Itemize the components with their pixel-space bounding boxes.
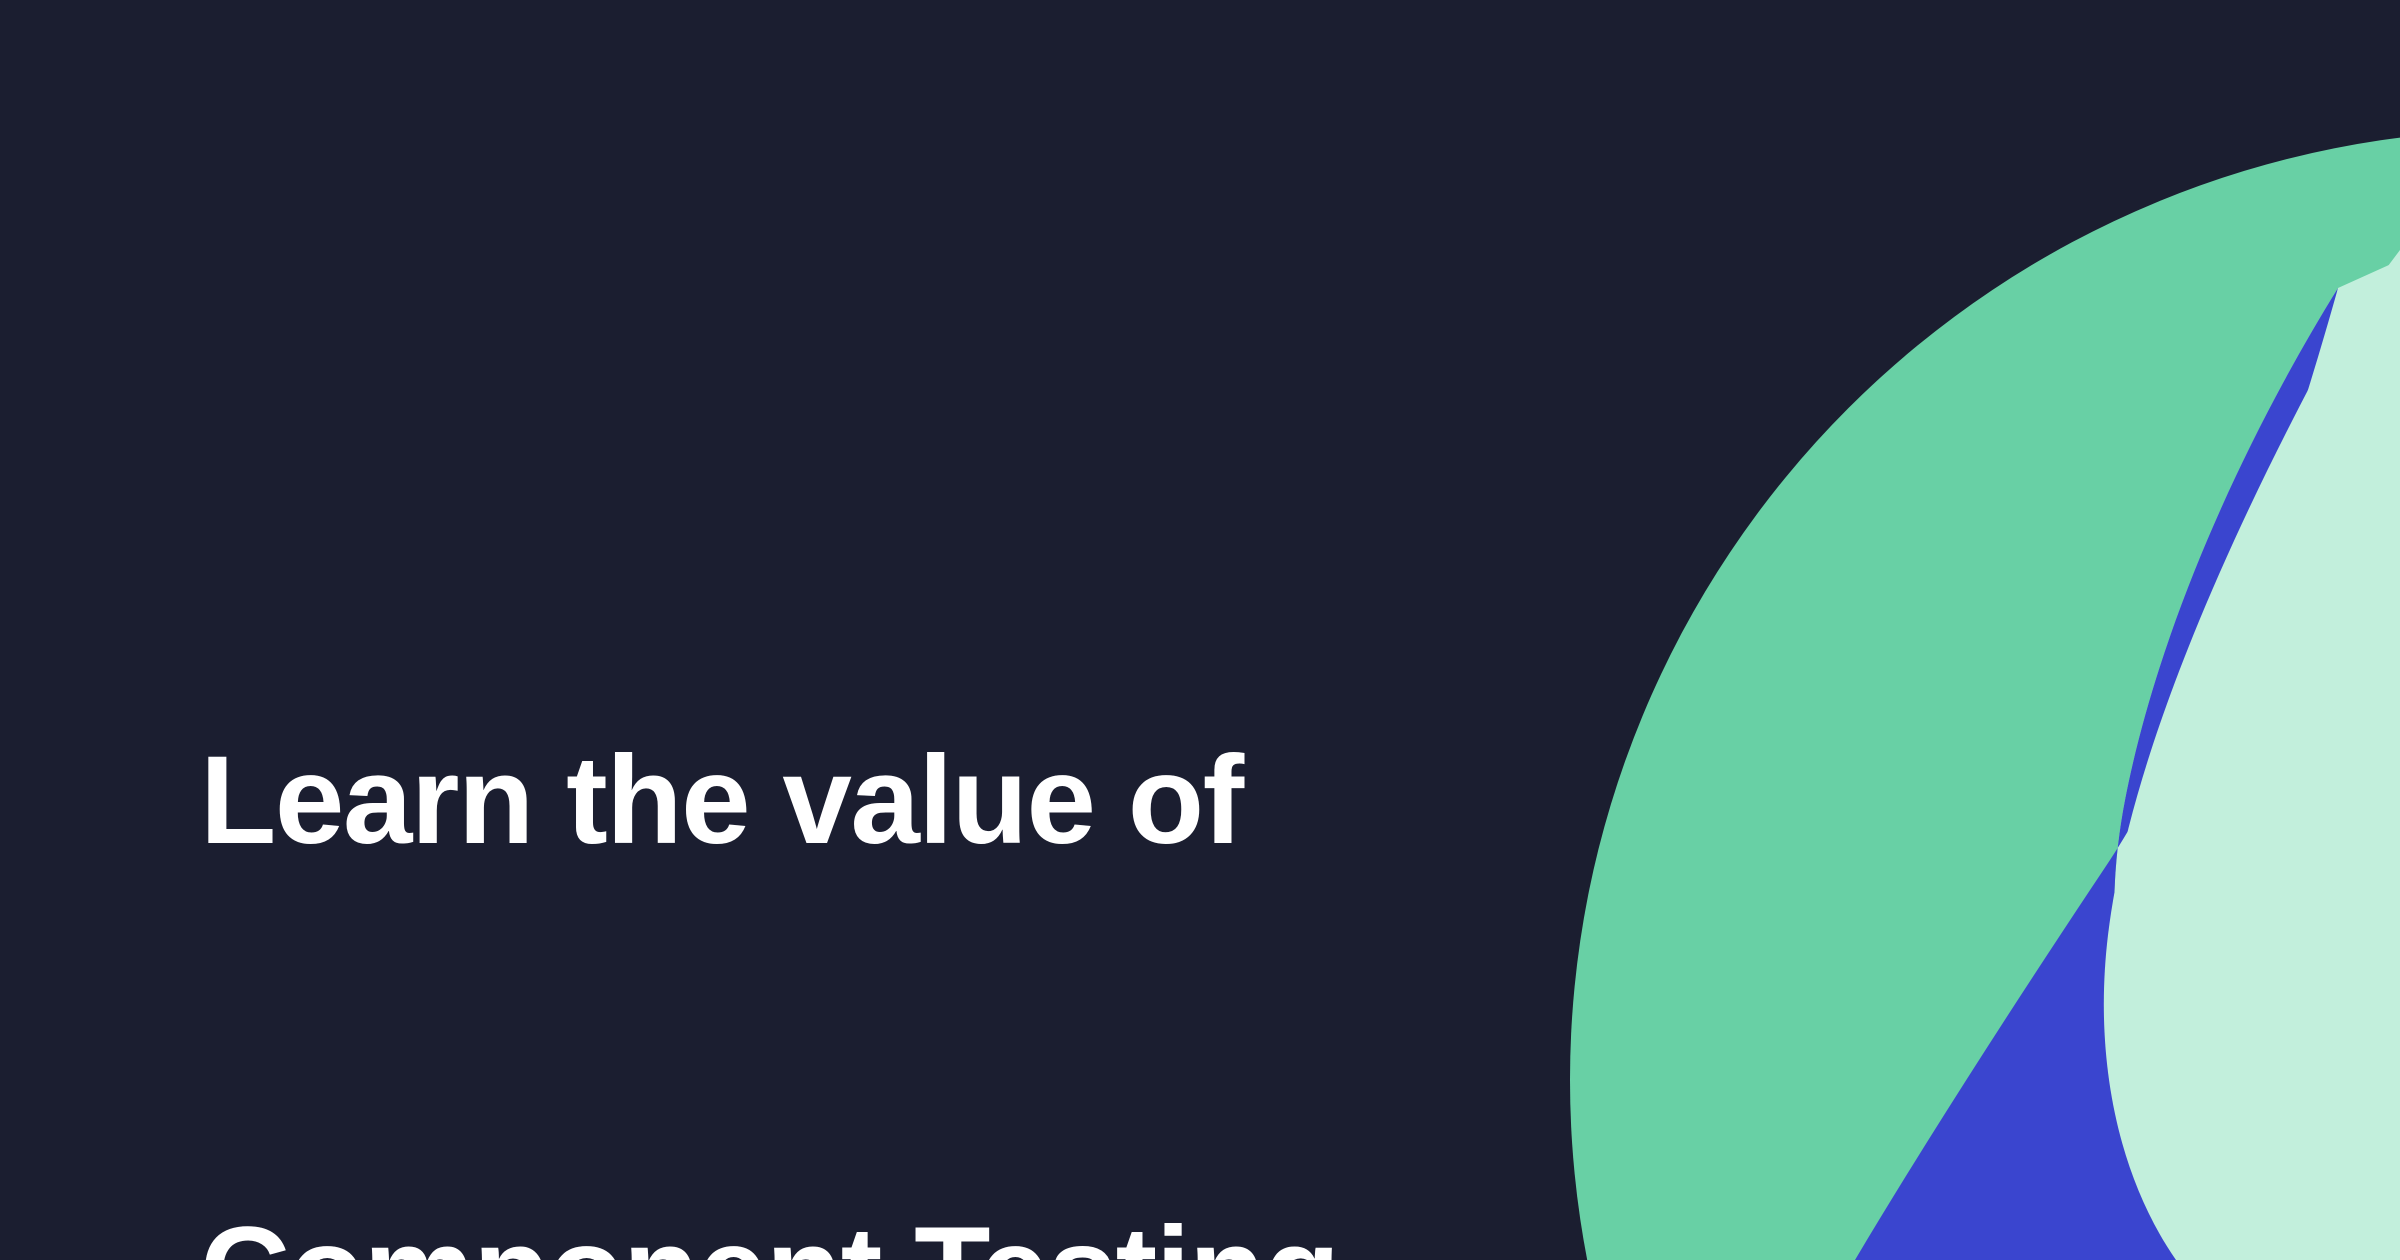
mint-overlay-shape <box>2104 250 2400 1260</box>
mint-lobe-shape <box>2114 260 2400 1260</box>
blue-swoosh-shape <box>1820 288 2400 1260</box>
headline-line-2: Component Testing <box>200 1193 1540 1260</box>
green-circle-shape <box>1570 130 2400 1260</box>
page-title: Learn the value of Component Testing for… <box>200 408 1540 1260</box>
banner-root: Learn the value of Component Testing for… <box>0 0 2400 1260</box>
headline-line-1: Learn the value of <box>200 722 1540 879</box>
